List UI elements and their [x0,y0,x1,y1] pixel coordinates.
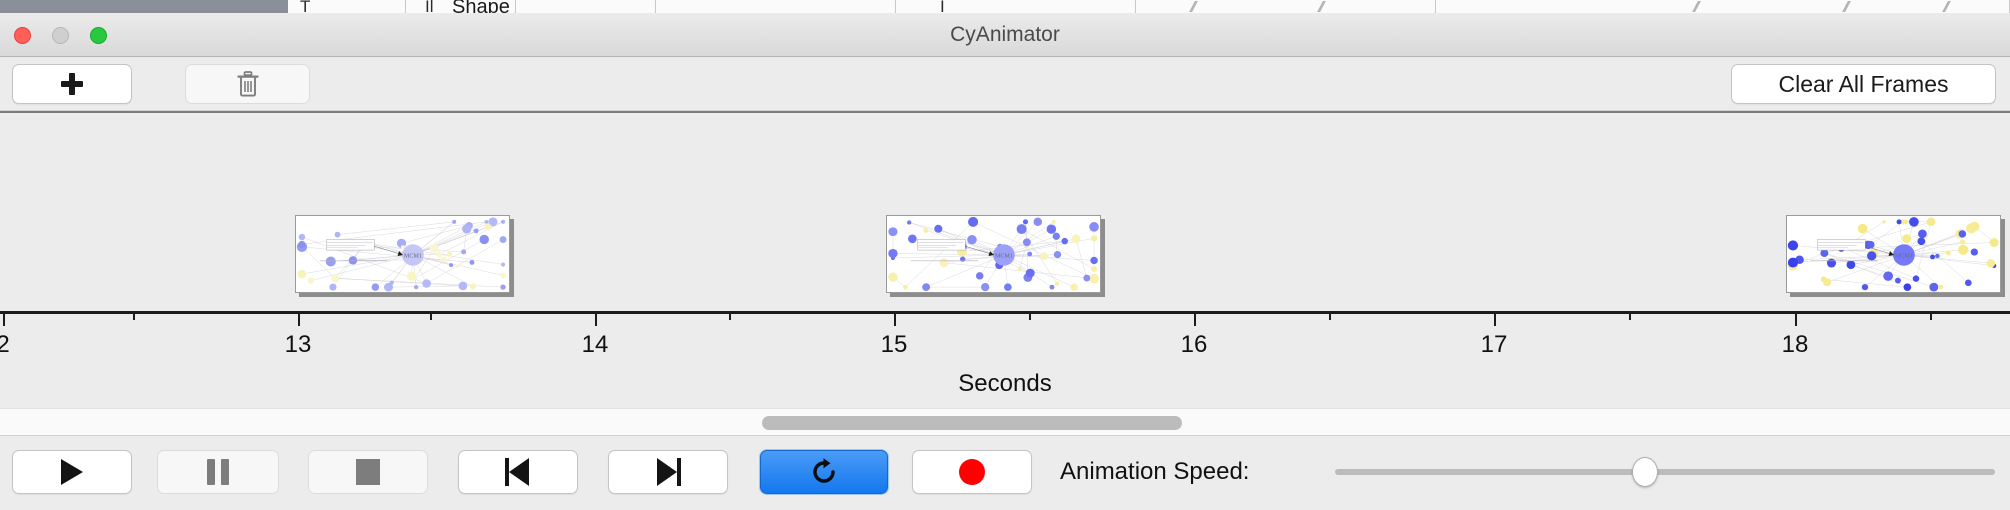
cyanimator-window: T Il I Shape CyAnimator [0,0,2010,510]
keyframes-area[interactable]: MCM1MCM1MCM1 [0,113,2010,316]
ruler-tick-label: 17 [1481,331,1508,359]
timeline-scrollbar[interactable] [0,408,2010,436]
play-button[interactable] [12,450,132,494]
ruler-tick-major [894,311,896,326]
ruler-tick-major [1494,311,1496,326]
ruler-tick-minor [1930,311,1932,320]
ruler-tick-label: 13 [285,331,312,359]
ruler-tick-label: 14 [582,331,609,359]
plus-icon [60,72,84,96]
ruler-tick-label: 2 [0,331,10,359]
ruler-tick-minor [133,311,135,320]
skip-previous-button[interactable] [458,450,578,494]
svg-text:MCM1: MCM1 [995,254,1013,260]
skip-next-button[interactable] [608,450,728,494]
add-frame-button[interactable] [12,64,132,104]
slider-track[interactable] [1335,469,1995,475]
slider-thumb[interactable] [1632,457,1658,487]
title-bar: CyAnimator [0,13,2010,57]
pause-icon [207,459,229,485]
record-icon [959,459,985,485]
ruler-tick-major [1795,311,1797,326]
ruler-tick-major [3,311,5,326]
ruler-tick-label: 18 [1782,331,1809,359]
stop-button[interactable] [308,450,428,494]
ruler-tick-major [1194,311,1196,326]
skip-previous-icon [505,458,531,486]
ruler-tick-major [298,311,300,326]
keyframe-thumbnail[interactable]: MCM1 [1786,215,2001,293]
scrollbar-thumb[interactable] [762,416,1182,430]
trash-icon [237,71,259,97]
svg-text:MCM1: MCM1 [1895,254,1913,260]
timeline-ruler [0,311,2010,314]
ruler-tick-major [595,311,597,326]
background-window-strip: T Il I Shape [0,0,2010,13]
ruler-tick-minor [1029,311,1031,320]
playback-control-bar: Animation Speed: [0,436,2010,510]
play-icon [61,459,83,485]
svg-text:MCM1: MCM1 [404,254,422,260]
animation-speed-label: Animation Speed: [1060,450,1249,494]
loop-icon [809,457,839,487]
ruler-tick-label: 16 [1181,331,1208,359]
window-title: CyAnimator [0,13,2010,57]
ruler-tick-minor [430,311,432,320]
background-shape-label: Shape [452,0,510,13]
loop-button[interactable] [760,450,888,494]
stop-icon [356,459,380,485]
axis-title-seconds: Seconds [0,370,2010,398]
toolbar: Clear All Frames [0,57,2010,111]
keyframe-thumbnail[interactable]: MCM1 [295,215,510,293]
ruler-tick-minor [1629,311,1631,320]
ruler-tick-label: 15 [881,331,908,359]
keyframe-thumbnail[interactable]: MCM1 [886,215,1101,293]
ruler-tick-minor [729,311,731,320]
delete-frame-button[interactable] [185,64,310,104]
ruler-tick-minor [1329,311,1331,320]
animation-speed-slider[interactable] [1335,450,1995,494]
timeline-panel[interactable]: MCM1MCM1MCM1 Seconds 2131415161718 [0,111,2010,408]
pause-button[interactable] [157,450,279,494]
clear-all-frames-button[interactable]: Clear All Frames [1731,64,1996,104]
skip-next-icon [655,458,681,486]
record-button[interactable] [912,450,1032,494]
